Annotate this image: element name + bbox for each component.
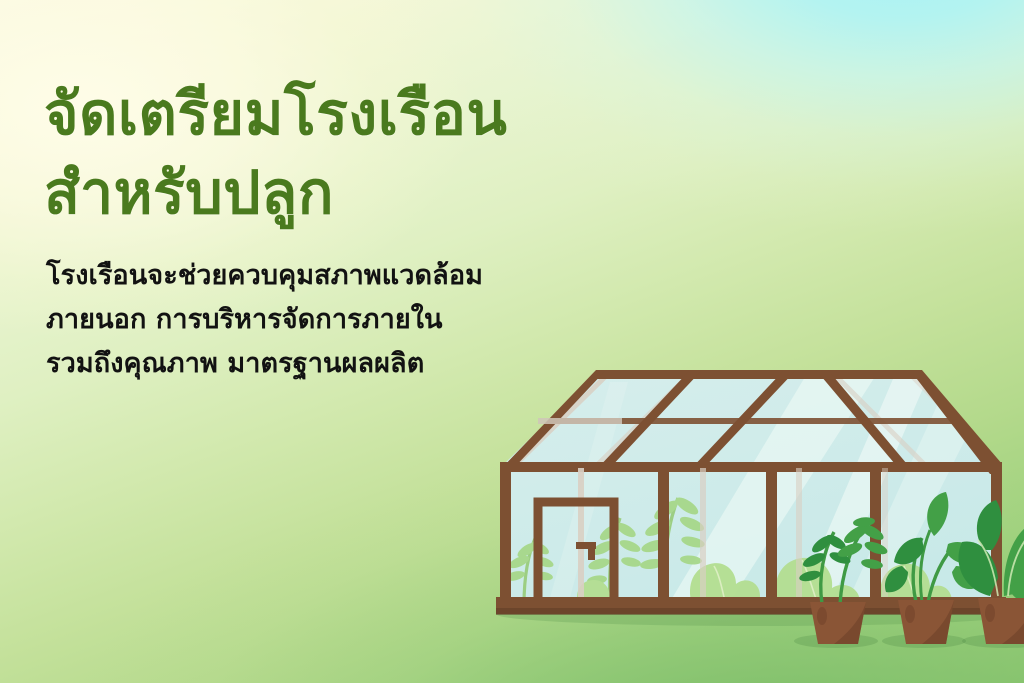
door-handle-stem: [588, 542, 595, 560]
roof-purlin-left-light: [538, 418, 622, 424]
wall-post-1: [658, 468, 669, 605]
pot-highlight-1: [817, 607, 827, 625]
page-title: จัดเตรียมโรงเรือน สำหรับปลูก: [44, 74, 604, 232]
greenhouse-illustration: [478, 352, 1024, 683]
roof-ridge: [596, 370, 920, 379]
text-block: จัดเตรียมโรงเรือน สำหรับปลูก โรงเรือนจะช…: [44, 74, 604, 385]
slide-canvas: จัดเตรียมโรงเรือน สำหรับปลูก โรงเรือนจะช…: [0, 0, 1024, 683]
wall-post-left: [500, 468, 511, 605]
wall-post-2: [766, 468, 777, 605]
pot-highlight-2: [905, 605, 915, 623]
greenhouse-svg: [478, 352, 1024, 683]
pot-highlight-3: [985, 604, 995, 622]
roof-eave: [500, 462, 1002, 472]
